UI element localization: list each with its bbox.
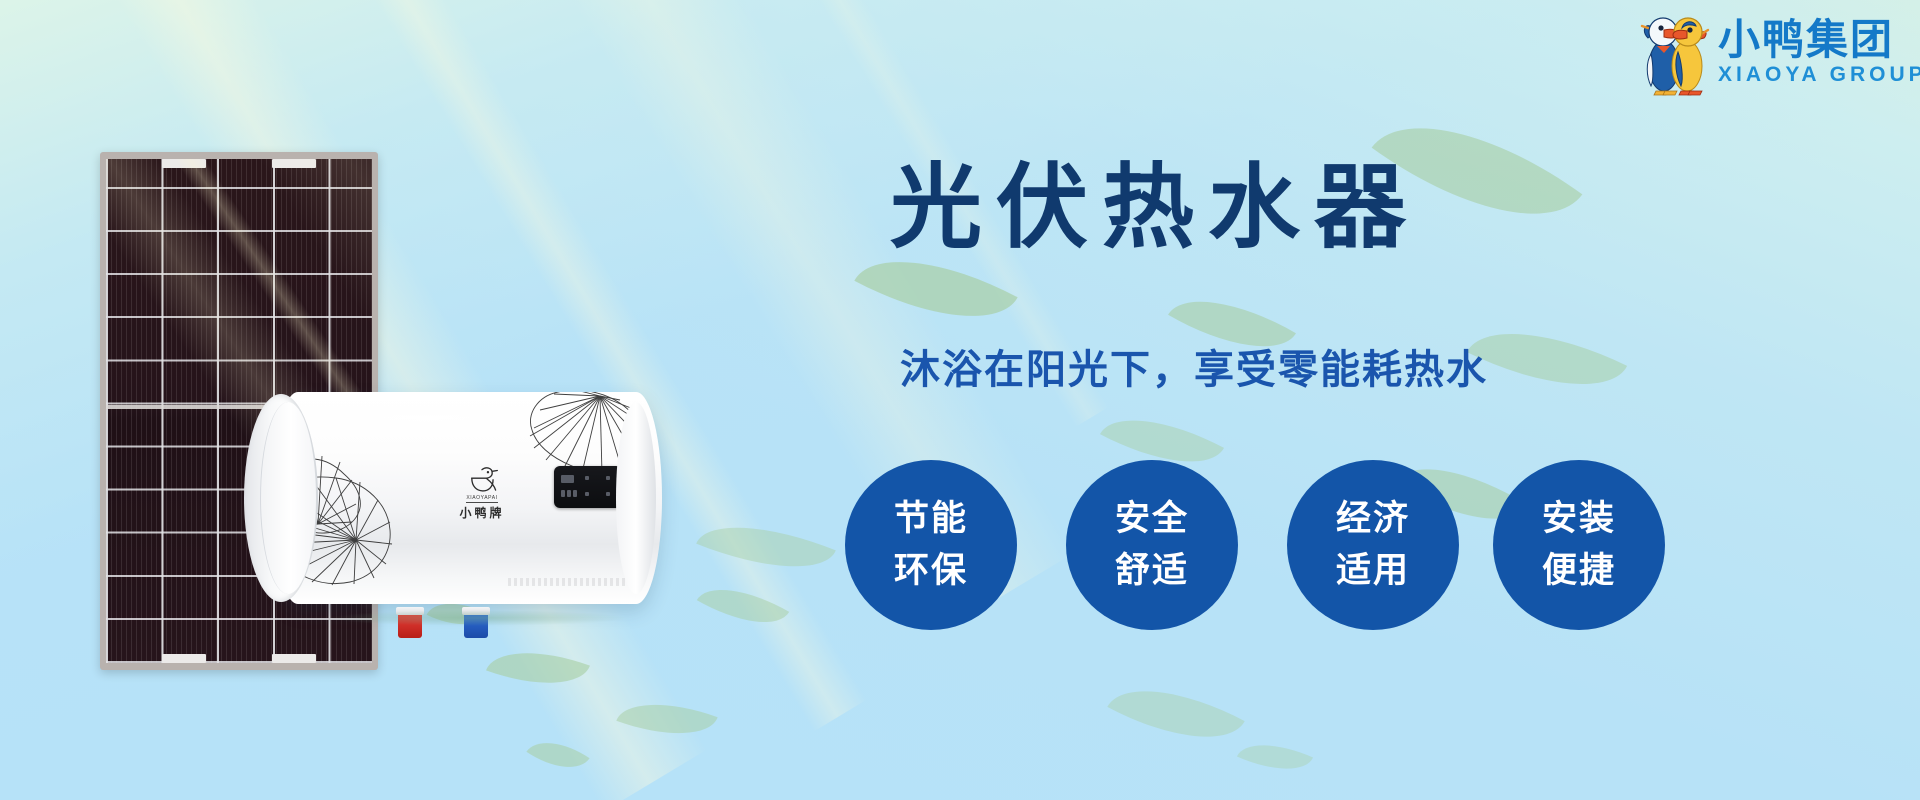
- water-heater-product-image: XIAOYAPAI 小鸭牌: [238, 392, 678, 622]
- product-shadow: [328, 610, 628, 626]
- feature-badge-line2: 适用: [1336, 547, 1410, 595]
- duck-logo-icon: [465, 464, 499, 494]
- feature-badge-line1: 节能: [894, 495, 968, 543]
- leaf-blade: [1237, 729, 1313, 785]
- leaf-blade: [697, 569, 789, 643]
- page-subtitle: 沐浴在阳光下，享受零能耗热水: [900, 342, 1600, 398]
- tank-brand-en: XIAOYAPAI: [466, 495, 497, 503]
- tank-brand-mark: XIAOYAPAI 小鸭牌: [448, 464, 516, 530]
- page-title: 光伏热水器: [890, 152, 1590, 264]
- leaf-icon: [616, 685, 717, 753]
- leaf-icon: [486, 633, 590, 703]
- logo-wordmark: 小鸭集团 XIAOYA GROUP: [1718, 17, 1920, 87]
- feature-badge-line2: 舒适: [1115, 547, 1189, 595]
- feature-badge-1[interactable]: 节能环保: [845, 460, 1017, 630]
- logo-brand-en: XIAOYA GROUP: [1718, 63, 1920, 87]
- duck-mascots-icon: [1638, 8, 1712, 96]
- leaf-icon: [1237, 729, 1313, 785]
- tank-highlight: [332, 410, 522, 426]
- promotional-banner: XIAOYAPAI 小鸭牌: [0, 0, 1920, 800]
- logo-brand-cn: 小鸭集团: [1718, 17, 1920, 63]
- feature-badge-line2: 便捷: [1542, 547, 1616, 595]
- leaf-blade: [696, 501, 836, 593]
- feature-badge-line1: 安全: [1115, 495, 1189, 543]
- leaf-blade: [616, 685, 717, 753]
- tank-right-cap: [616, 402, 656, 594]
- feature-badge-line1: 经济: [1336, 495, 1410, 543]
- leaf-icon: [1107, 661, 1244, 767]
- leaf-blade: [526, 727, 589, 783]
- tank-left-cap-inner: [260, 402, 316, 594]
- company-logo[interactable]: 小鸭集团 XIAOYA GROUP: [1638, 6, 1898, 98]
- tank-rating-label: [508, 578, 638, 586]
- feature-badges: 节能环保安全舒适经济适用安装便捷: [845, 460, 1665, 630]
- feature-badge-line1: 安装: [1542, 495, 1616, 543]
- leaf-icon: [526, 727, 589, 783]
- tank-brand-cn: 小鸭牌: [459, 506, 504, 520]
- leaf-blade: [1107, 661, 1244, 767]
- leaf-blade: [486, 633, 590, 703]
- heater-display-panel[interactable]: [554, 466, 622, 508]
- feature-badge-line2: 环保: [894, 547, 968, 595]
- feature-badge-3[interactable]: 经济适用: [1287, 460, 1459, 630]
- leaf-icon: [696, 501, 836, 593]
- feature-badge-4[interactable]: 安装便捷: [1493, 460, 1665, 630]
- leaf-icon: [697, 569, 789, 643]
- heater-tank-body: XIAOYAPAI 小鸭牌: [272, 392, 662, 604]
- feature-badge-2[interactable]: 安全舒适: [1066, 460, 1238, 630]
